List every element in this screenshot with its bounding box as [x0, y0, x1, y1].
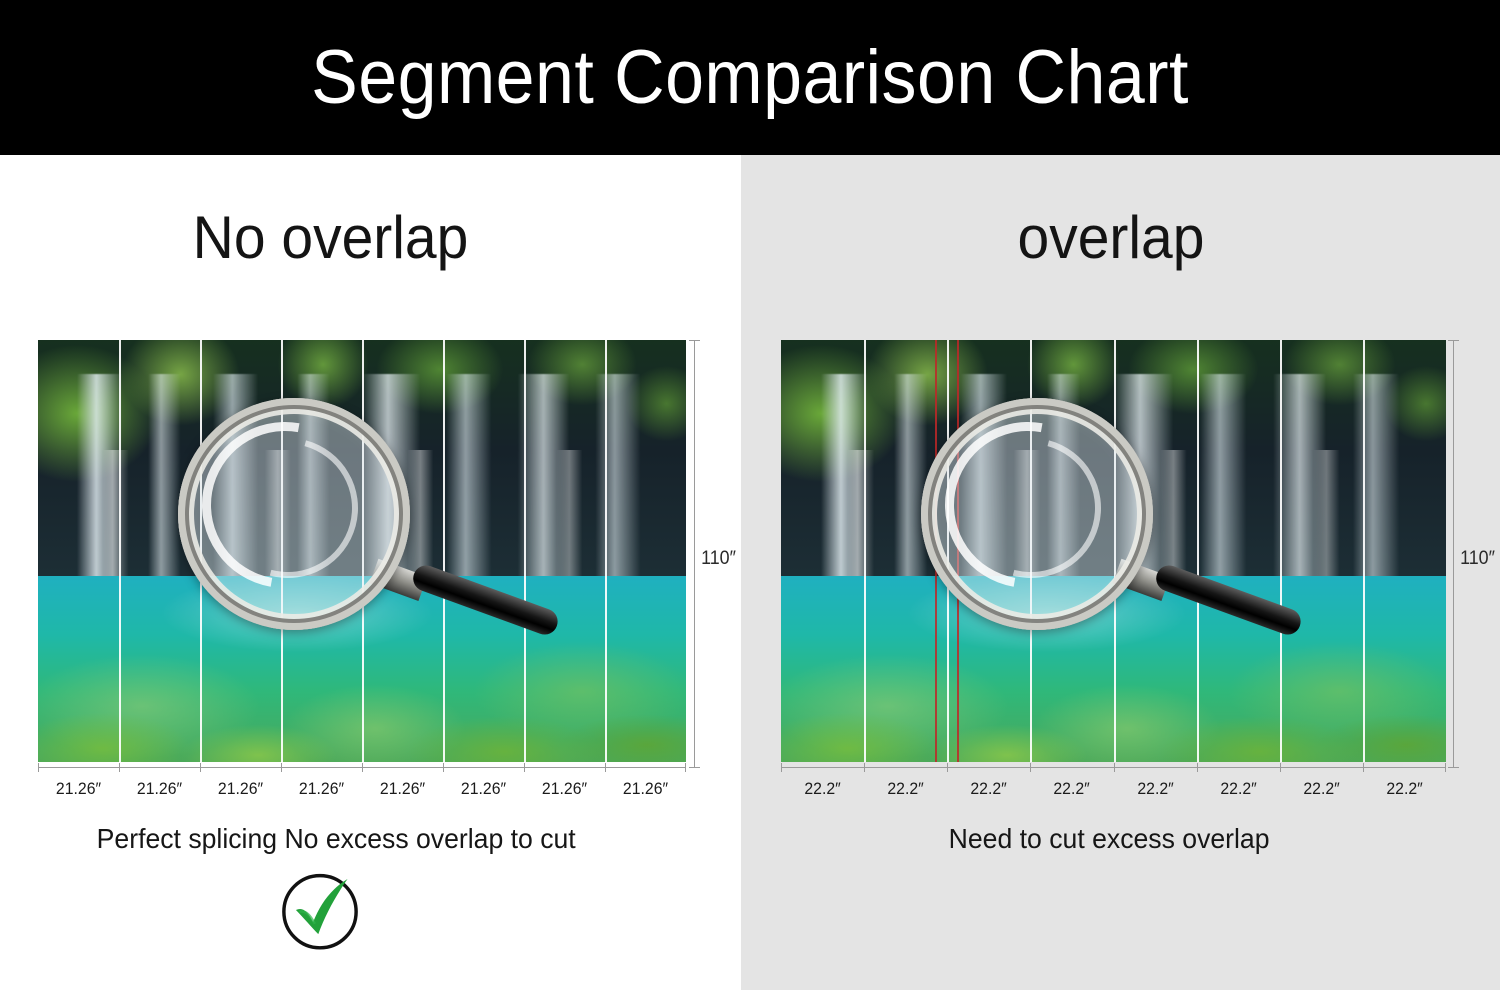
dimension-line-vertical	[1453, 340, 1454, 768]
caption-no-overlap: Perfect splicing No excess overlap to cu…	[18, 823, 718, 855]
dimension-tick	[947, 763, 948, 772]
segment-width-label: 22.2″	[1283, 779, 1360, 799]
dimension-tick	[1114, 763, 1115, 772]
comparison-panels: No overlap	[0, 155, 1500, 990]
segment-width-label: 22.2″	[1116, 779, 1193, 799]
segment-width-label: 22.2″	[950, 779, 1027, 799]
dimension-cap-bottom	[1448, 767, 1459, 768]
dimension-tick	[524, 763, 525, 772]
dimension-cap-top	[1448, 340, 1459, 341]
page-title: Segment Comparison Chart	[311, 40, 1189, 116]
green-check-circle-icon	[277, 867, 363, 953]
dimension-tick	[1280, 763, 1281, 772]
waterfall-photo	[781, 340, 1446, 762]
dimension-line-vertical	[694, 340, 695, 768]
dimension-tick	[281, 763, 282, 772]
title-banner: Segment Comparison Chart	[0, 0, 1500, 155]
dimension-tick	[1363, 763, 1364, 772]
dimension-tick	[443, 763, 444, 772]
dimension-tick	[864, 763, 865, 772]
waterfall-mural-image	[38, 340, 686, 762]
segment-comparison-infographic: Segment Comparison Chart No overlap	[0, 0, 1500, 990]
segment-width-label: 21.26″	[41, 779, 116, 799]
dimension-ticks	[781, 763, 1446, 772]
dimension-tick	[38, 763, 39, 772]
photo-mossbank-layer	[38, 694, 686, 762]
panel-overlap: overlap	[741, 155, 1500, 990]
dimension-tick	[605, 763, 606, 772]
segment-width-label: 21.26″	[527, 779, 602, 799]
height-label-right: 110″	[1460, 548, 1495, 570]
dimension-tick	[200, 763, 201, 772]
panel-heading-overlap: overlap	[760, 203, 1481, 272]
dimension-cap-bottom	[689, 767, 700, 768]
caption-overlap: Need to cut excess overlap	[760, 823, 1481, 855]
dimension-tick	[1197, 763, 1198, 772]
segment-width-label: 21.26″	[446, 779, 521, 799]
panel-no-overlap: No overlap	[0, 155, 737, 990]
segment-width-label: 22.2″	[1033, 779, 1110, 799]
dimension-tick	[119, 763, 120, 772]
segment-width-label: 21.26″	[203, 779, 278, 799]
dimension-ticks	[38, 763, 686, 772]
panel-heading-no-overlap: No overlap	[18, 203, 718, 272]
waterfall-photo	[38, 340, 686, 762]
segment-width-labels-right: 22.2″ 22.2″ 22.2″ 22.2″ 22.2″ 22.2″ 22.2…	[781, 779, 1446, 799]
photo-mossbank-layer	[781, 694, 1446, 762]
segment-width-labels-left: 21.26″ 21.26″ 21.26″ 21.26″ 21.26″ 21.26…	[38, 779, 686, 799]
mural-overlap	[781, 340, 1446, 762]
height-label-left: 110″	[701, 548, 736, 570]
segment-width-label: 21.26″	[284, 779, 359, 799]
waterfall-mural-image	[781, 340, 1446, 762]
dimension-tick	[781, 763, 782, 772]
segment-width-label: 21.26″	[608, 779, 683, 799]
segment-width-label: 22.2″	[867, 779, 944, 799]
segment-width-label: 21.26″	[365, 779, 440, 799]
dimension-tick	[1030, 763, 1031, 772]
segment-width-label: 22.2″	[1200, 779, 1277, 799]
mural-no-overlap	[38, 340, 686, 762]
dimension-cap-top	[689, 340, 700, 341]
segment-width-label: 22.2″	[1366, 779, 1443, 799]
dimension-tick	[362, 763, 363, 772]
segment-width-label: 21.26″	[122, 779, 197, 799]
segment-width-label: 22.2″	[784, 779, 861, 799]
